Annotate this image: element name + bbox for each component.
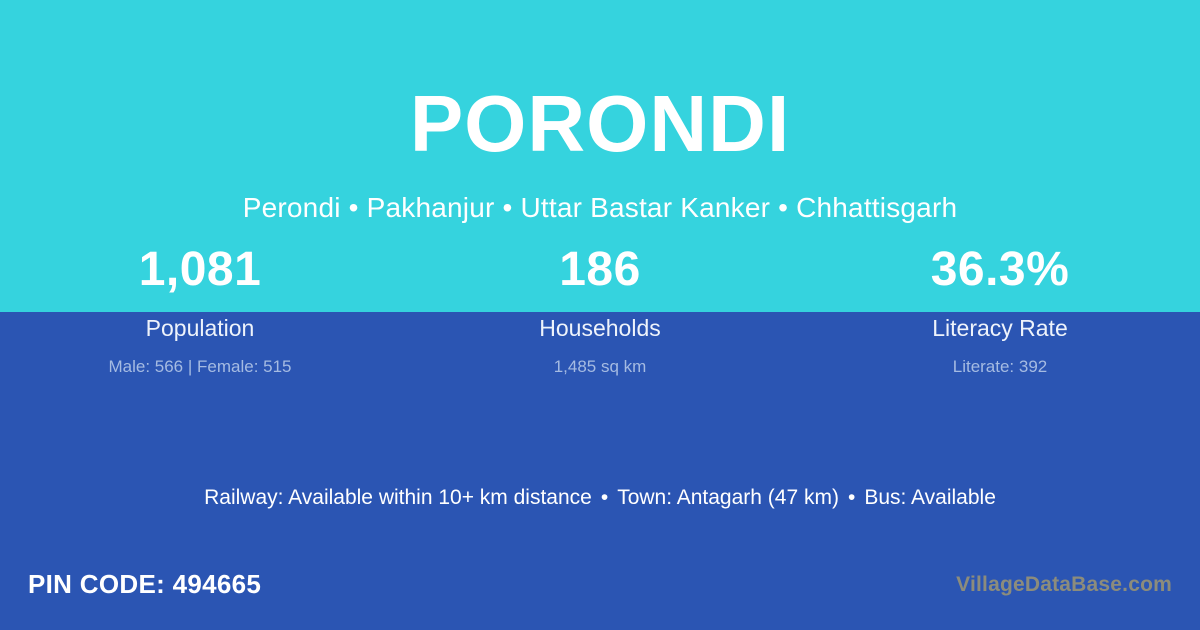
infrastructure-row: Railway: Available within 10+ km distanc…: [0, 487, 1200, 508]
stat-label: Population: [0, 317, 400, 340]
infrastructure-separator: •: [592, 486, 617, 509]
brand-watermark: VillageDataBase.com: [956, 574, 1172, 595]
title-block: PORONDI Perondi • Pakhanjur • Uttar Bast…: [0, 0, 1200, 222]
footer-row: PIN CODE: 494665 VillageDataBase.com: [0, 552, 1200, 630]
page-title: PORONDI: [0, 0, 1200, 164]
stat-label: Literacy Rate: [800, 317, 1200, 340]
infrastructure-railway: Railway: Available within 10+ km distanc…: [204, 486, 592, 509]
pin-code: PIN CODE: 494665: [28, 571, 261, 597]
stat-value: 186: [400, 246, 800, 294]
stat-detail: 1,485 sq km: [400, 358, 800, 375]
infrastructure-separator: •: [839, 486, 864, 509]
stats-row: 1,081 Population Male: 566 | Female: 515…: [0, 246, 1200, 375]
stat-households: 186 Households 1,485 sq km: [400, 246, 800, 375]
stat-value: 36.3%: [800, 246, 1200, 294]
stat-detail: Literate: 392: [800, 358, 1200, 375]
stat-value: 1,081: [0, 246, 400, 294]
infrastructure-town: Town: Antagarh (47 km): [617, 486, 839, 509]
infrastructure-bus: Bus: Available: [864, 486, 996, 509]
stat-literacy-rate: 36.3% Literacy Rate Literate: 392: [800, 246, 1200, 375]
village-info-card: PORONDI Perondi • Pakhanjur • Uttar Bast…: [0, 0, 1200, 630]
stat-detail: Male: 566 | Female: 515: [0, 358, 400, 375]
stat-population: 1,081 Population Male: 566 | Female: 515: [0, 246, 400, 375]
breadcrumb: Perondi • Pakhanjur • Uttar Bastar Kanke…: [0, 164, 1200, 222]
stat-label: Households: [400, 317, 800, 340]
